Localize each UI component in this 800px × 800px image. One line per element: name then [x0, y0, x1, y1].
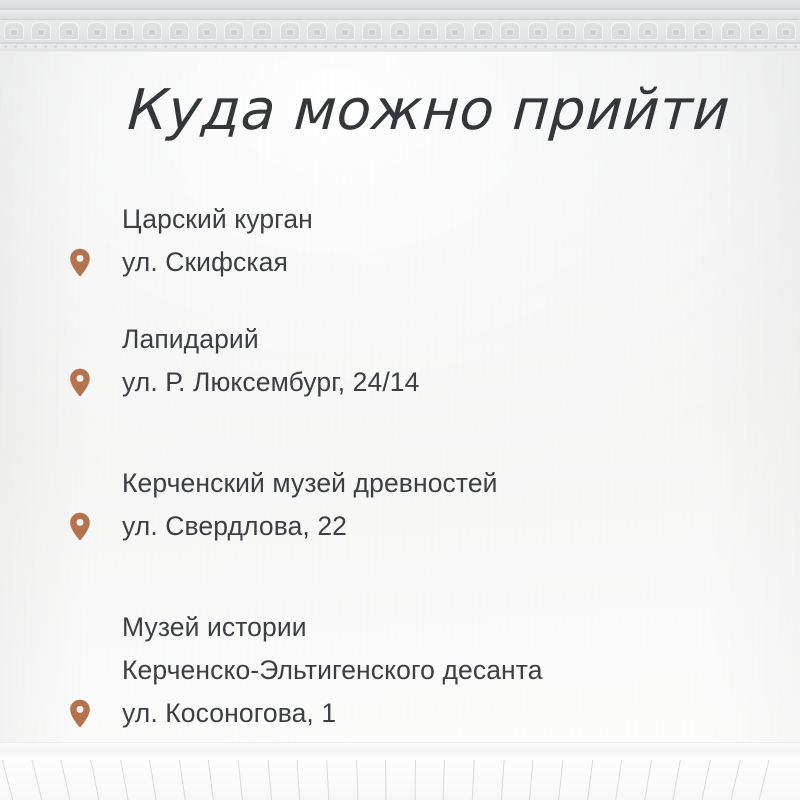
molding-bead — [4, 45, 7, 48]
floor-plank-seam — [414, 760, 416, 800]
molding-bead — [654, 45, 657, 48]
molding-bead — [584, 45, 587, 48]
floor-plank-seam — [89, 760, 101, 800]
molding-bead — [634, 45, 637, 48]
place-name: Керченский музей древностей — [122, 462, 800, 505]
molding-bead — [514, 45, 517, 48]
place-address: ул. Р. Люксембург, 24/14 — [122, 361, 800, 404]
molding-bead — [294, 45, 297, 48]
molding-bead — [214, 45, 217, 48]
molding-bead — [234, 45, 237, 48]
molding-bead — [244, 45, 247, 48]
molding-cove-band — [0, 10, 800, 19]
molding-bead — [674, 45, 677, 48]
molding-bead — [474, 45, 477, 48]
molding-bead — [104, 45, 107, 48]
molding-dentil — [142, 22, 162, 40]
floor-plank-seam — [296, 760, 301, 800]
molding-dentil — [556, 22, 576, 40]
floor-plank-seam — [59, 760, 72, 800]
molding-bead — [724, 45, 727, 48]
place-address: ул. Косоногова, 1 — [122, 692, 800, 735]
molding-dentil — [390, 22, 410, 40]
molding-dentil — [114, 22, 134, 40]
floor-plank-seam — [671, 760, 682, 800]
place-item: Лапидарийул. Р. Люксембург, 24/14 — [0, 318, 800, 404]
place-address: ул. Скифская — [122, 241, 800, 284]
molding-bead — [594, 45, 597, 48]
molding-bead — [34, 45, 37, 48]
floor-plank-seam — [119, 760, 130, 800]
molding-bead — [364, 45, 367, 48]
molding-bead — [404, 45, 407, 48]
place-item: Царский курганул. Скифская — [0, 198, 800, 284]
molding-dentil — [307, 22, 327, 40]
molding-bead — [54, 45, 57, 48]
molding-bead — [254, 45, 257, 48]
floor-plank-seam — [528, 760, 534, 800]
floor-plank-seam — [148, 760, 158, 800]
molding-bead — [604, 45, 607, 48]
molding-bead — [334, 45, 337, 48]
molding-bead — [224, 45, 227, 48]
molding-dentil — [224, 22, 244, 40]
floor-plank-seam — [614, 760, 623, 800]
molding-dentil — [749, 22, 769, 40]
floor-plank-seam — [500, 760, 505, 800]
molding-dentil — [666, 22, 686, 40]
place-item: Керченский музей древностейул. Свердлова… — [0, 462, 800, 548]
molding-dentil — [500, 22, 520, 40]
molding-bead — [434, 45, 437, 48]
molding-dentil — [280, 22, 300, 40]
baseboard — [0, 742, 800, 761]
map-pin-icon — [69, 248, 91, 278]
molding-bead — [784, 45, 787, 48]
molding-dentil — [4, 22, 24, 40]
map-pin-icon — [69, 699, 91, 729]
molding-bead — [194, 45, 197, 48]
molding-bead — [734, 45, 737, 48]
floor-plank-seam — [267, 760, 273, 800]
molding-bead — [124, 45, 127, 48]
molding-dentil — [169, 22, 189, 40]
floor-plank-seam — [757, 760, 771, 800]
molding-dentil — [197, 22, 217, 40]
molding-bead — [684, 45, 687, 48]
place-name: Керченско-Эльтигенского десанта — [122, 649, 800, 692]
wooden-floor — [0, 760, 800, 800]
molding-dentil — [583, 22, 603, 40]
molding-bead — [184, 45, 187, 48]
molding-bead — [144, 45, 147, 48]
molding-bead — [384, 45, 387, 48]
map-pin-icon — [69, 512, 91, 542]
molding-bead — [314, 45, 317, 48]
molding-bead — [344, 45, 347, 48]
floor-plank-seam — [207, 760, 215, 800]
molding-bead — [164, 45, 167, 48]
molding-bead — [454, 45, 457, 48]
molding-line-bottom — [0, 49, 800, 52]
molding-dentil — [638, 22, 658, 40]
molding-bead — [114, 45, 117, 48]
floor-plank-seam — [237, 760, 244, 800]
molding-bead — [764, 45, 767, 48]
crown-molding — [0, 0, 800, 52]
molding-bead — [524, 45, 527, 48]
molding-bead — [204, 45, 207, 48]
place-name: Лапидарий — [122, 318, 800, 361]
molding-bead — [174, 45, 177, 48]
molding-bead — [694, 45, 697, 48]
molding-bead — [504, 45, 507, 48]
floor-plank-seam — [586, 760, 594, 800]
map-pin-icon — [69, 368, 91, 398]
molding-bead — [574, 45, 577, 48]
molding-dentil — [611, 22, 631, 40]
floor-plank-seam — [385, 760, 387, 800]
place-name: Музей истории — [122, 606, 800, 649]
molding-dentil — [335, 22, 355, 40]
molding-bead — [414, 45, 417, 48]
molding-dentil — [721, 22, 741, 40]
molding-bead — [424, 45, 427, 48]
floor-plank-seam — [557, 760, 564, 800]
molding-dentil — [31, 22, 51, 40]
molding-bead — [324, 45, 327, 48]
molding-dentil-row — [0, 20, 800, 42]
molding-dentil — [528, 22, 548, 40]
molding-bead — [354, 45, 357, 48]
molding-bead — [154, 45, 157, 48]
molding-bead — [544, 45, 547, 48]
molding-bead — [614, 45, 617, 48]
molding-bead — [304, 45, 307, 48]
molding-bead — [554, 45, 557, 48]
molding-bead — [464, 45, 467, 48]
molding-bead — [644, 45, 647, 48]
floor-plank-seam — [443, 760, 446, 800]
molding-bead — [774, 45, 777, 48]
molding-bead — [394, 45, 397, 48]
molding-dentil — [418, 22, 438, 40]
molding-dentil — [445, 22, 465, 40]
molding-bead — [664, 45, 667, 48]
molding-bead — [484, 45, 487, 48]
floor-plank-seam — [700, 760, 712, 800]
place-address: ул. Свердлова, 22 — [122, 505, 800, 548]
floor-plank-seam — [178, 760, 187, 800]
floor-plank-seam — [356, 760, 359, 800]
molding-bead — [274, 45, 277, 48]
molding-bead — [624, 45, 627, 48]
molding-bead — [564, 45, 567, 48]
floor-plank-seam — [728, 760, 741, 800]
molding-bead — [374, 45, 377, 48]
molding-bead — [74, 45, 77, 48]
floor-plank-seam — [0, 760, 15, 800]
molding-bead — [704, 45, 707, 48]
floor-plank-seam — [326, 760, 330, 800]
places-list: Царский курганул. СкифскаяЛапидарийул. Р… — [0, 198, 800, 735]
molding-dentil — [693, 22, 713, 40]
molding-bead — [444, 45, 447, 48]
page-title: Куда можно прийти — [126, 80, 750, 142]
molding-bead — [744, 45, 747, 48]
molding-bead — [84, 45, 87, 48]
molding-bead — [284, 45, 287, 48]
molding-dentil — [252, 22, 272, 40]
molding-bead — [494, 45, 497, 48]
molding-bead — [534, 45, 537, 48]
molding-top-band — [0, 0, 800, 8]
molding-bead — [714, 45, 717, 48]
floor-plank-seam — [471, 760, 475, 800]
place-name: Царский курган — [122, 198, 800, 241]
floor-plank-seam — [30, 760, 44, 800]
place-item: Музей историиКерченско-Эльтигенского дес… — [0, 606, 800, 735]
molding-bead — [94, 45, 97, 48]
molding-dentil — [473, 22, 493, 40]
molding-bead — [794, 45, 797, 48]
molding-bead — [14, 45, 17, 48]
molding-bead — [134, 45, 137, 48]
molding-bead — [24, 45, 27, 48]
molding-bead — [264, 45, 267, 48]
poster-canvas: Куда можно прийти Царский курганул. Скиф… — [0, 0, 800, 800]
molding-bead — [44, 45, 47, 48]
molding-dentil — [87, 22, 107, 40]
molding-dentil — [362, 22, 382, 40]
molding-bead — [754, 45, 757, 48]
molding-dentil — [776, 22, 796, 40]
molding-dentil — [59, 22, 79, 40]
floor-plank-seam — [643, 760, 653, 800]
molding-bead — [64, 45, 67, 48]
